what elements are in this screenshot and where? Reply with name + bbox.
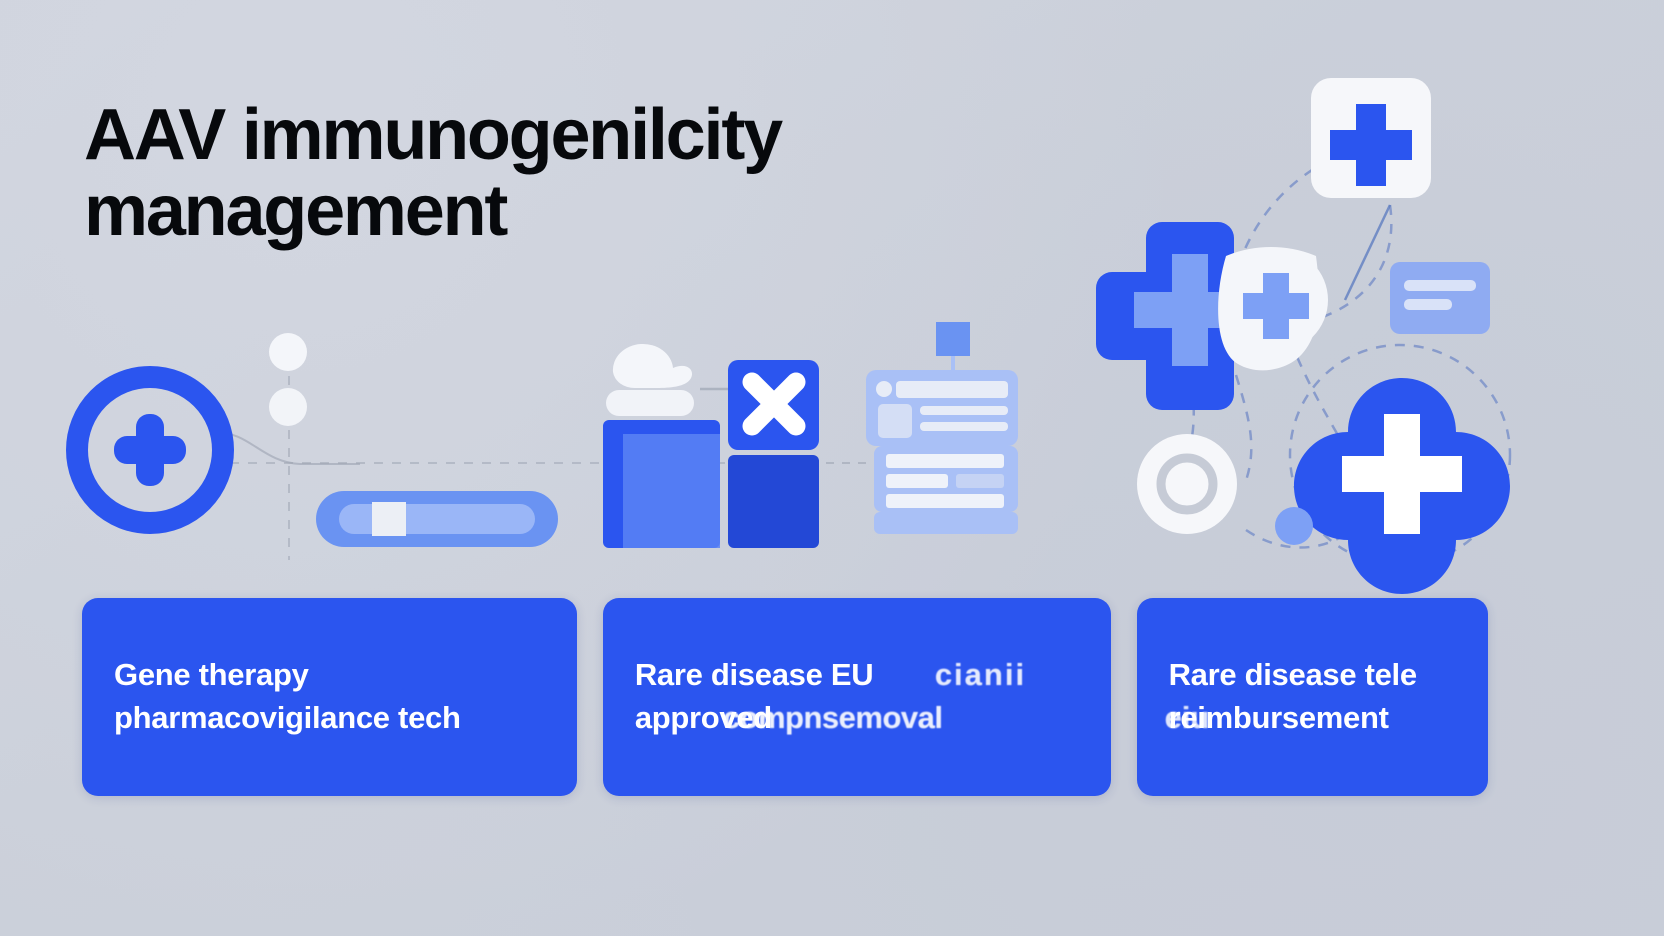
card-row: Gene therapy pharmacovigilance tech Rare… (82, 598, 1488, 796)
card-label: Rare disease tele reimbursement (1137, 654, 1488, 740)
illustration-area (0, 0, 1664, 600)
bandage-pill-icon (316, 491, 558, 547)
shield-plus-icon (1218, 247, 1328, 370)
form-document-icon (866, 322, 1018, 534)
circle-plus-outline-icon (77, 377, 223, 523)
card-gene-therapy-pharmacovigilance[interactable]: Gene therapy pharmacovigilance tech (82, 598, 577, 796)
bar-block-icon (603, 420, 720, 548)
card-label: Gene therapy pharmacovigilance tech (82, 654, 577, 740)
dot-white-icon (269, 388, 307, 426)
card-rare-disease-eu-approval[interactable]: Rare disease EU approved cianii compnsem… (603, 598, 1111, 796)
bar-block-lower-icon (728, 455, 819, 548)
curve-connector (215, 432, 360, 464)
close-x-icon (728, 360, 819, 450)
dot-blue-icon (1275, 507, 1313, 545)
ring-circle-icon (1137, 434, 1237, 534)
solid-connector (1345, 205, 1390, 300)
card-rare-disease-tele-reimbursement[interactable]: Rare disease tele reimbursement eiu (1137, 598, 1488, 796)
card-label: Rare disease EU approved (603, 654, 1111, 740)
slide-canvas: AAV immunogenilcity management (0, 0, 1664, 936)
cloud-white-icon (606, 344, 694, 416)
dot-white-icon (269, 333, 307, 371)
clover-plus-icon (1294, 378, 1510, 594)
cross-card-white-icon (1311, 78, 1431, 198)
list-chip-icon (1390, 262, 1490, 334)
